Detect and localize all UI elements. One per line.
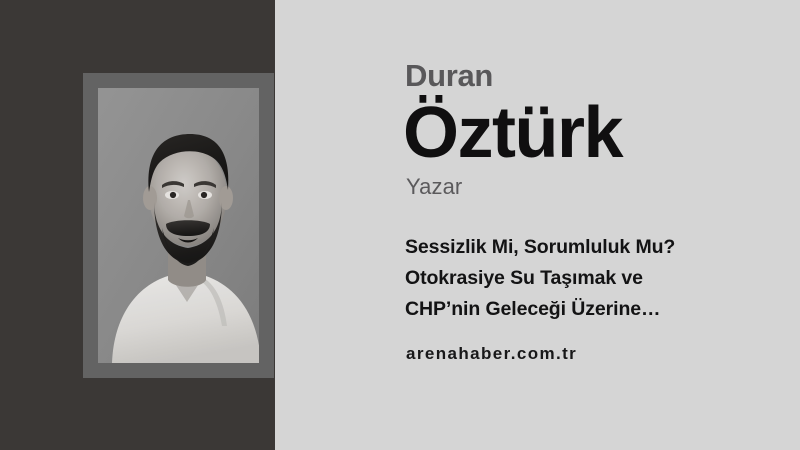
author-first-name: Duran (405, 60, 493, 91)
author-portrait (98, 88, 259, 363)
headline-line-3: CHP’nin Geleceği Üzerine… (405, 294, 765, 325)
headline-line-2: Otokrasiye Su Taşımak ve (405, 263, 765, 294)
author-role: Yazar (406, 176, 462, 198)
site-url: arenahaber.com.tr (406, 345, 577, 362)
portrait-image (98, 88, 259, 363)
article-headline: Sessizlik Mi, Sorumluluk Mu? Otokrasiye … (405, 232, 765, 325)
author-last-name: Öztürk (403, 97, 622, 169)
author-article-card: Duran Öztürk Yazar Sessizlik Mi, Sorumlu… (0, 0, 800, 450)
portrait-frame (83, 73, 274, 378)
headline-line-1: Sessizlik Mi, Sorumluluk Mu? (405, 232, 765, 263)
text-column: Duran Öztürk Yazar Sessizlik Mi, Sorumlu… (405, 0, 775, 450)
